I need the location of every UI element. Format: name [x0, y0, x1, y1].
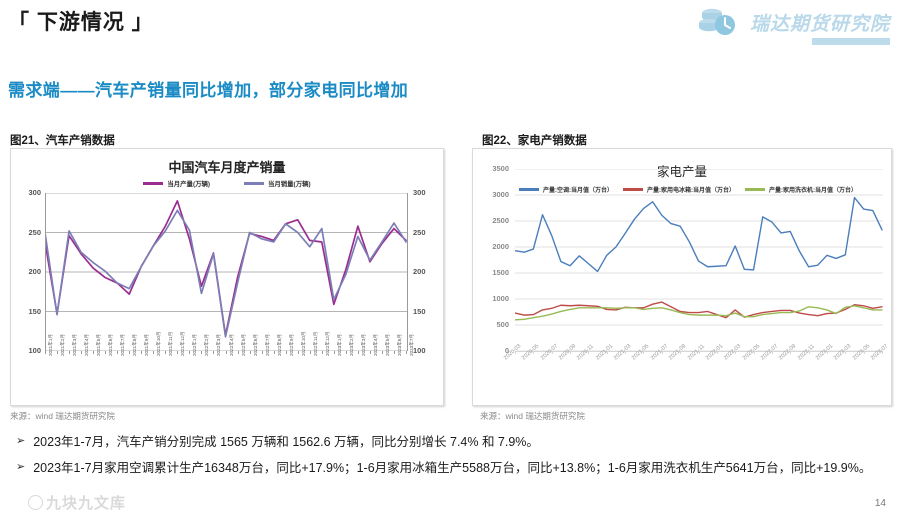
legend-swatch-auto-production: [143, 182, 163, 185]
x-tick-mark: [81, 351, 82, 354]
x-tick-mark: [117, 351, 118, 354]
x-tick-label: 2021年10月: [156, 331, 162, 356]
source-note-right: 来源：wind 瑞达期货研究院: [480, 410, 585, 422]
x-tick-label: 2023年4月: [373, 334, 379, 356]
bullet-marker-icon: ➢: [16, 432, 25, 450]
x-tick-mark: [69, 351, 70, 354]
figure-caption-right: 图22、家电产销数据: [482, 132, 587, 148]
y-tick-label: 250: [19, 228, 41, 237]
legend-item-auto-production: 当月产量(万辆): [143, 179, 210, 188]
x-tick-label: 2021年12月: [180, 331, 186, 356]
y-tick-label: 250: [413, 228, 426, 237]
bullet-list: ➢ 2023年1-7月，汽车产销分别完成 1565 万辆和 1562.6 万辆，…: [12, 432, 888, 484]
x-tick-mark: [45, 351, 46, 354]
x-tick-label: 2021年7月: [120, 334, 126, 356]
x-tick-label: 2022年4月: [229, 334, 235, 356]
x-tick-label: 2022年10月: [301, 331, 307, 356]
y-tick-label: 300: [413, 188, 426, 197]
y-tick-label: 3500: [475, 164, 509, 173]
y-tick-label: 100: [19, 346, 41, 355]
x-tick-mark: [153, 351, 154, 354]
x-tick-mark: [189, 351, 190, 354]
x-tick-label: 2023年3月: [361, 334, 367, 356]
coins-clock-icon: [697, 5, 743, 39]
brand-name: 瑞达期货研究院: [750, 9, 890, 36]
x-tick-label: 2021年3月: [72, 334, 78, 356]
x-tick-mark: [382, 351, 383, 354]
x-tick-label: 2021年1月: [48, 334, 54, 356]
x-tick-label: 2022年12月: [325, 331, 331, 356]
x-tick-mark: [57, 351, 58, 354]
y-tick-label: 0: [475, 346, 509, 355]
x-tick-mark: [358, 351, 359, 354]
x-tick-label: 2022年7月: [265, 334, 271, 356]
x-tick-label: 2023年7月: [409, 334, 415, 356]
x-tick-label: 2021年5月: [96, 334, 102, 356]
chart-panel-auto-production-sales: 中国汽车月度产销量 当月产量(万辆) 当月销量(万辆) 100100150150…: [10, 148, 444, 406]
bullet-text: 2023年1-7月家用空调累计生产16348万台，同比+17.9%；1-6月家用…: [33, 458, 871, 478]
x-tick-label: 2021年2月: [60, 334, 66, 356]
x-tick-mark: [334, 351, 335, 354]
x-tick-mark: [213, 351, 214, 354]
chart-panel-home-appliance-output: 家电产量 产量:空调:当月值（万台） 产量:家用电冰箱:当月值（万台） 产量:家…: [472, 148, 892, 406]
x-tick-label: 2022年9月: [289, 334, 295, 356]
x-tick-label: 2023年2月: [349, 334, 355, 356]
x-tick-mark: [346, 351, 347, 354]
plot-area-right: [515, 169, 883, 351]
x-tick-mark: [286, 351, 287, 354]
y-tick-label: 150: [413, 307, 426, 316]
legend-item-auto-sales: 当月销量(万辆): [244, 179, 311, 188]
x-tick-mark: [310, 351, 311, 354]
logo-underline-bar: [812, 38, 890, 45]
y-tick-label: 300: [19, 188, 41, 197]
x-tick-mark: [298, 351, 299, 354]
x-tick-label: 2022年5月: [241, 334, 247, 356]
y-tick-label: 1500: [475, 268, 509, 277]
x-tick-label: 2021年8月: [132, 334, 138, 356]
source-note-left: 来源：wind 瑞达期货研究院: [10, 410, 115, 422]
axis-line: [407, 193, 408, 351]
x-tick-mark: [250, 351, 251, 354]
x-tick-mark: [93, 351, 94, 354]
x-tick-label: 2021年6月: [108, 334, 114, 356]
page-title: 「 下游情况 」: [8, 6, 154, 36]
y-tick-label: 2500: [475, 216, 509, 225]
x-tick-label: 2023年6月: [397, 334, 403, 356]
list-item: ➢ 2023年1-7月，汽车产销分别完成 1565 万辆和 1562.6 万辆，…: [12, 432, 888, 452]
bullet-text: 2023年1-7月，汽车产销分别完成 1565 万辆和 1562.6 万辆，同比…: [33, 432, 539, 452]
y-tick-label: 2000: [475, 242, 509, 251]
bullet-marker-icon: ➢: [16, 458, 25, 476]
legend-label-auto-production: 当月产量(万辆): [167, 179, 210, 188]
list-item: ➢ 2023年1-7月家用空调累计生产16348万台，同比+17.9%；1-6月…: [12, 458, 888, 478]
chart-legend-left: 当月产量(万辆) 当月销量(万辆): [46, 179, 408, 188]
x-tick-label: 2022年6月: [253, 334, 259, 356]
y-tick-label: 150: [19, 307, 41, 316]
x-tick-label: 2022年3月: [216, 334, 222, 356]
x-tick-mark: [177, 351, 178, 354]
x-tick-label: 2022年8月: [277, 334, 283, 356]
x-tick-label: 2021年4月: [84, 334, 90, 356]
x-tick-mark: [226, 351, 227, 354]
x-tick-mark: [165, 351, 166, 354]
x-tick-label: 2021年9月: [144, 334, 150, 356]
x-tick-label: 2022年2月: [204, 334, 210, 356]
chart-title-left: 中国汽车月度产销量: [11, 157, 443, 176]
figure-caption-left: 图21、汽车产销数据: [10, 132, 115, 148]
x-tick-mark: [370, 351, 371, 354]
x-tick-label: 2022年1月: [192, 334, 198, 356]
plot-area-left: [45, 193, 407, 351]
legend-swatch-auto-sales: [244, 182, 264, 185]
brand-logo: 瑞达期货研究院: [697, 5, 890, 39]
x-tick-label: 2021年11月: [168, 332, 174, 356]
section-heading: 需求端——汽车产销量同比增加，部分家电同比增加: [8, 76, 408, 101]
x-tick-mark: [406, 351, 407, 354]
page-number: 14: [875, 498, 886, 509]
y-tick-label: 200: [19, 267, 41, 276]
x-tick-mark: [394, 351, 395, 354]
x-tick-mark: [201, 351, 202, 354]
y-tick-label: 200: [413, 267, 426, 276]
x-tick-mark: [238, 351, 239, 354]
x-tick-label: 2023年5月: [385, 334, 391, 356]
x-tick-mark: [274, 351, 275, 354]
y-tick-label: 1000: [475, 294, 509, 303]
y-tick-label: 500: [475, 320, 509, 329]
x-tick-mark: [262, 351, 263, 354]
x-tick-mark: [129, 351, 130, 354]
x-tick-label: 2022年11月: [313, 332, 319, 356]
axis-line: [45, 193, 46, 351]
x-tick-mark: [322, 351, 323, 354]
watermark: 九块九文库: [28, 492, 126, 513]
legend-label-auto-sales: 当月销量(万辆): [268, 179, 311, 188]
y-tick-label: 3000: [475, 190, 509, 199]
x-tick-label: 2023年1月: [337, 334, 343, 356]
x-tick-mark: [105, 351, 106, 354]
x-tick-mark: [141, 351, 142, 354]
